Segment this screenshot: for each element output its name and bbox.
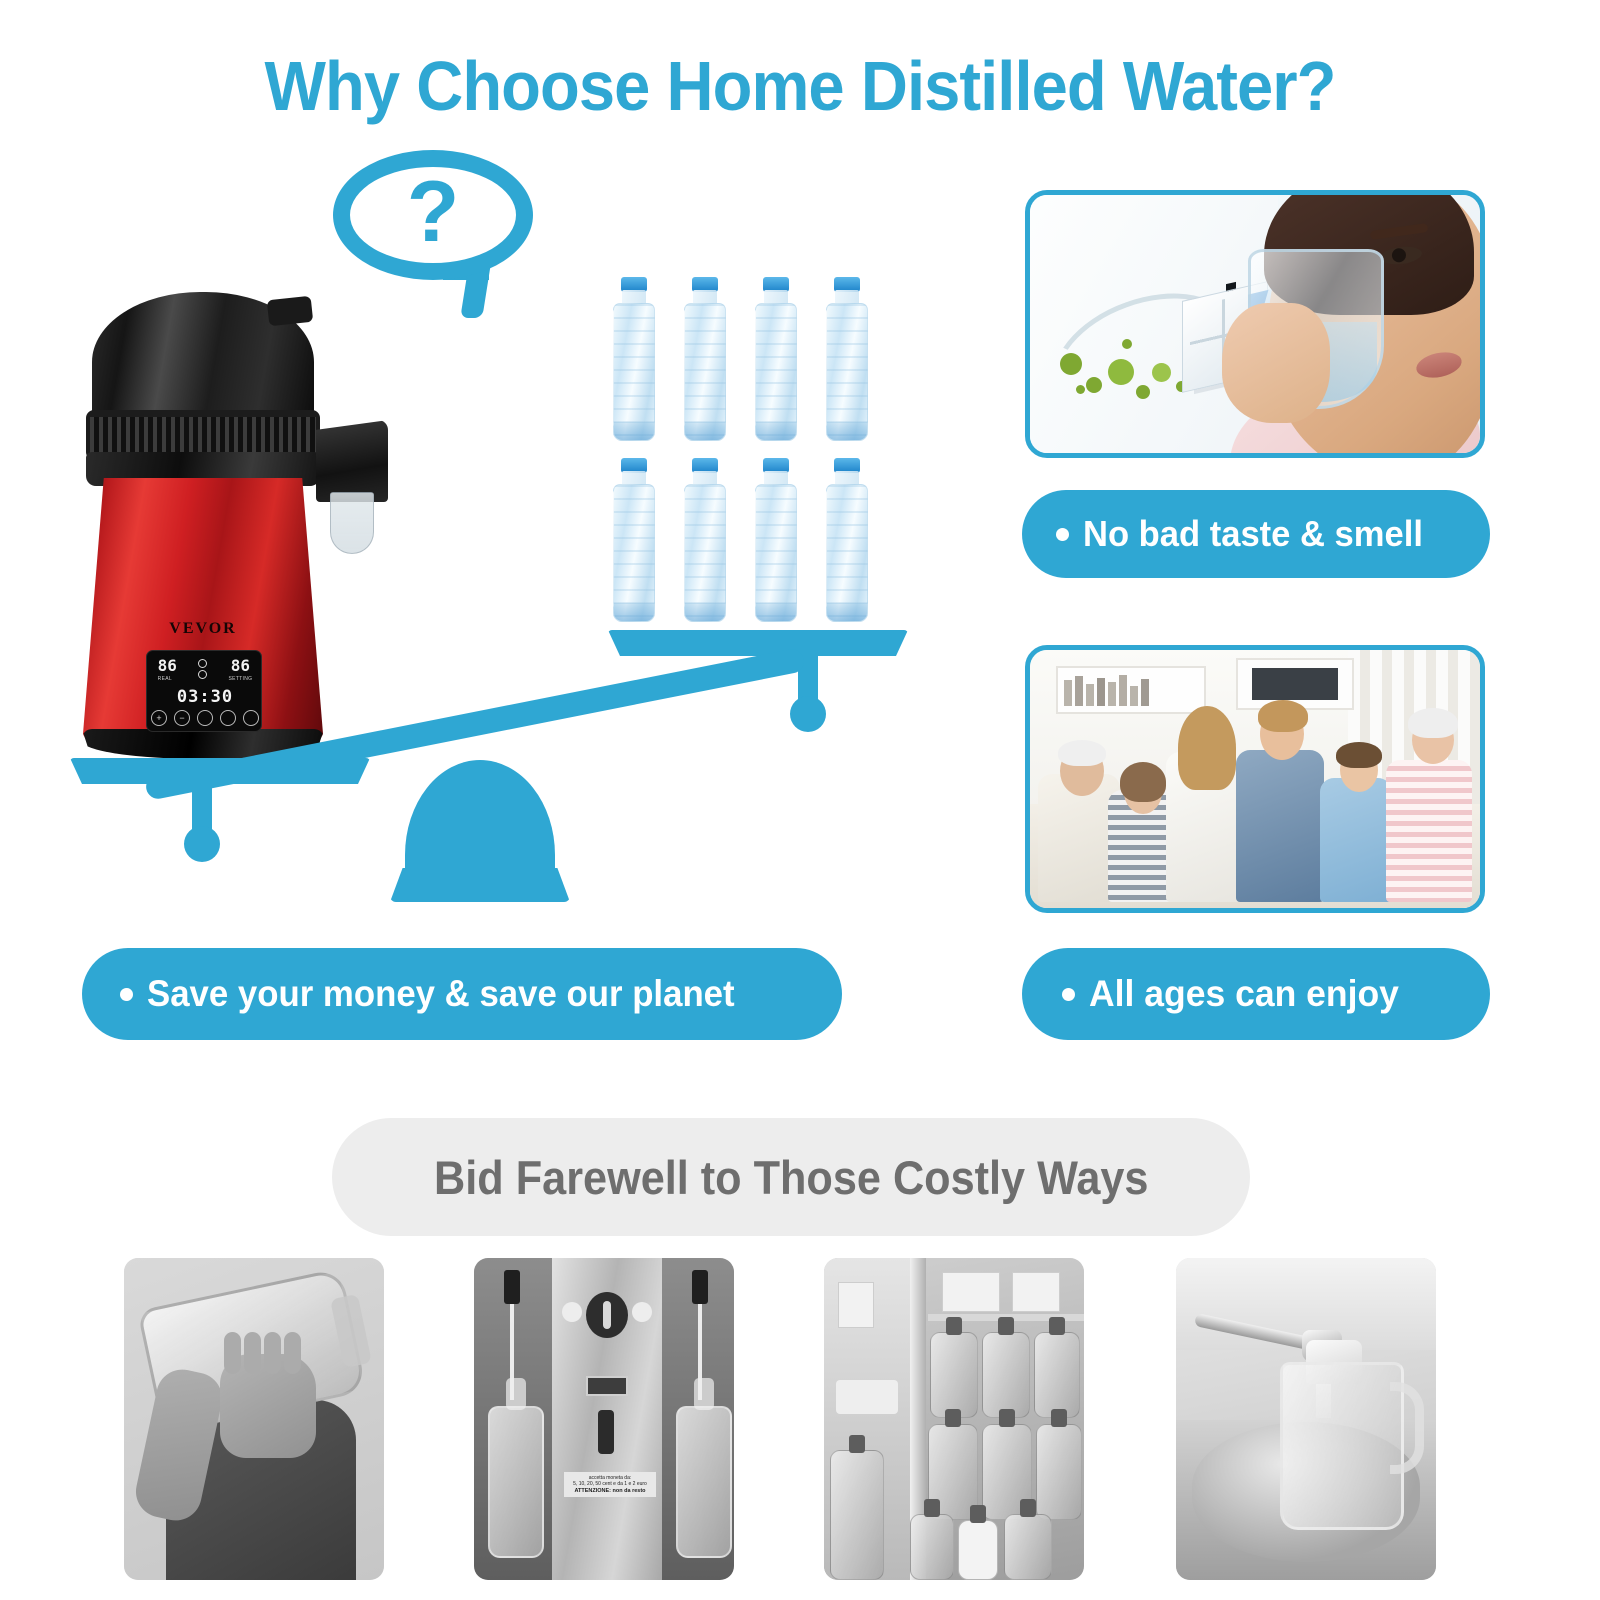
benefit-pill-ages: All ages can enjoy — [1022, 948, 1490, 1040]
scale-knob-right — [790, 696, 826, 732]
coin-slot-icon[interactable] — [586, 1292, 628, 1338]
hair-grandfather — [1058, 740, 1106, 766]
photo-family — [1025, 645, 1485, 913]
bottle-highlight — [608, 309, 614, 427]
bottle-highlight — [750, 309, 756, 427]
photo-drinking-water — [1025, 190, 1485, 458]
bottle-highlight — [679, 490, 685, 608]
bottle-highlight — [821, 309, 827, 427]
books — [1064, 672, 1190, 706]
bottle-body — [826, 484, 868, 622]
photo-jug-store — [824, 1258, 1084, 1580]
plastic-water-bottle — [671, 275, 738, 450]
bullet-dot-icon — [1056, 528, 1069, 541]
hair-girl — [1120, 762, 1166, 802]
balance-scale-graphic — [60, 620, 920, 920]
vending-tap-left — [504, 1270, 520, 1304]
water-jug — [910, 1514, 954, 1580]
distiller-nozzle — [330, 492, 374, 554]
drinking-photo-scene — [1030, 195, 1480, 453]
glass-bottle-left — [488, 1406, 544, 1558]
water-jug — [982, 1332, 1030, 1418]
bottle-highlight — [821, 490, 827, 608]
plastic-water-bottle — [600, 275, 667, 450]
vending-label-line3: ATTENZIONE: non da resto — [574, 1488, 645, 1494]
store-notice-1 — [838, 1282, 874, 1328]
woman-hand — [1222, 303, 1330, 423]
plastic-water-bottle — [813, 275, 880, 450]
white-bottle — [958, 1520, 998, 1580]
plastic-water-bottle — [813, 456, 880, 631]
store-notice-3 — [1012, 1272, 1060, 1312]
benefit-label: Save your money & save our planet — [147, 973, 735, 1015]
water-jug — [1034, 1332, 1080, 1418]
bottle-highlight — [750, 490, 756, 608]
hair-mother — [1178, 706, 1236, 790]
man-hand — [220, 1354, 316, 1458]
person-grandmother — [1386, 760, 1472, 902]
vending-tap-right — [692, 1270, 708, 1304]
person-father — [1236, 750, 1324, 902]
bottle-highlight — [608, 490, 614, 608]
plastic-water-bottle — [742, 456, 809, 631]
hair-grandmother — [1408, 708, 1458, 738]
photo-filter-pitcher — [1176, 1258, 1436, 1580]
vending-button-right[interactable] — [632, 1302, 652, 1322]
bottle-highlight — [679, 309, 685, 427]
hair-father — [1258, 700, 1308, 732]
water-jug — [1004, 1514, 1052, 1580]
bottle-body — [684, 303, 726, 441]
pitcher-handle — [1390, 1382, 1424, 1474]
scale-fulcrum-foot — [390, 868, 570, 902]
plastic-water-bottle — [600, 456, 667, 631]
glass-bottle-right — [676, 1406, 732, 1558]
store-notice-2 — [942, 1272, 1000, 1312]
bottle-body — [613, 303, 655, 441]
bottle-body — [613, 484, 655, 622]
person-boy — [1320, 778, 1392, 902]
store-sink — [836, 1380, 898, 1414]
scale-knob-left — [184, 826, 220, 862]
bottle-body — [755, 484, 797, 622]
benefit-label: All ages can enjoy — [1089, 973, 1399, 1015]
vending-lever[interactable] — [598, 1410, 614, 1454]
speech-bubble-body: ? — [333, 150, 533, 280]
scale-platform-left — [70, 758, 370, 784]
question-speech-bubble: ? — [333, 150, 543, 310]
water-jug — [930, 1332, 978, 1418]
vending-display — [586, 1376, 628, 1396]
water-jug — [1036, 1424, 1082, 1520]
benefit-pill-taste: No bad taste & smell — [1022, 490, 1490, 578]
distiller-spout — [316, 420, 388, 502]
scale-platform-right — [608, 630, 908, 656]
benefit-pill-money: Save your money & save our planet — [82, 948, 842, 1040]
filter-pitcher — [1280, 1362, 1404, 1530]
section-banner: Bid Farewell to Those Costly Ways — [332, 1118, 1250, 1236]
section-banner-label: Bid Farewell to Those Costly Ways — [434, 1150, 1148, 1205]
family-photo-scene — [1030, 650, 1480, 908]
water-dispenser-jug — [830, 1450, 884, 1580]
plastic-water-bottle — [742, 275, 809, 450]
photo-water-vending-machine: accetta moneta da: 5, 10, 20, 50 cent e … — [474, 1258, 734, 1580]
bottle-body — [826, 303, 868, 441]
bottle-body — [684, 484, 726, 622]
costly-ways-photo-strip: accetta moneta da: 5, 10, 20, 50 cent e … — [0, 1258, 1600, 1588]
bullet-dot-icon — [1062, 988, 1075, 1001]
question-mark-icon: ? — [407, 169, 460, 255]
distiller-lid — [92, 292, 314, 424]
bottle-body — [755, 303, 797, 441]
plastic-water-bottle — [671, 456, 738, 631]
bullet-dot-icon — [120, 988, 133, 1001]
distiller-lid-latch — [267, 296, 313, 326]
vending-instruction-label: accetta moneta da: 5, 10, 20, 50 cent e … — [564, 1472, 656, 1497]
benefit-label: No bad taste & smell — [1083, 513, 1423, 555]
vending-button-left[interactable] — [562, 1302, 582, 1322]
page-title: Why Choose Home Distilled Water? — [56, 46, 1544, 126]
hair-boy — [1336, 742, 1382, 768]
plastic-bottle-group — [600, 275, 880, 630]
photo-heavy-jug — [124, 1258, 384, 1580]
